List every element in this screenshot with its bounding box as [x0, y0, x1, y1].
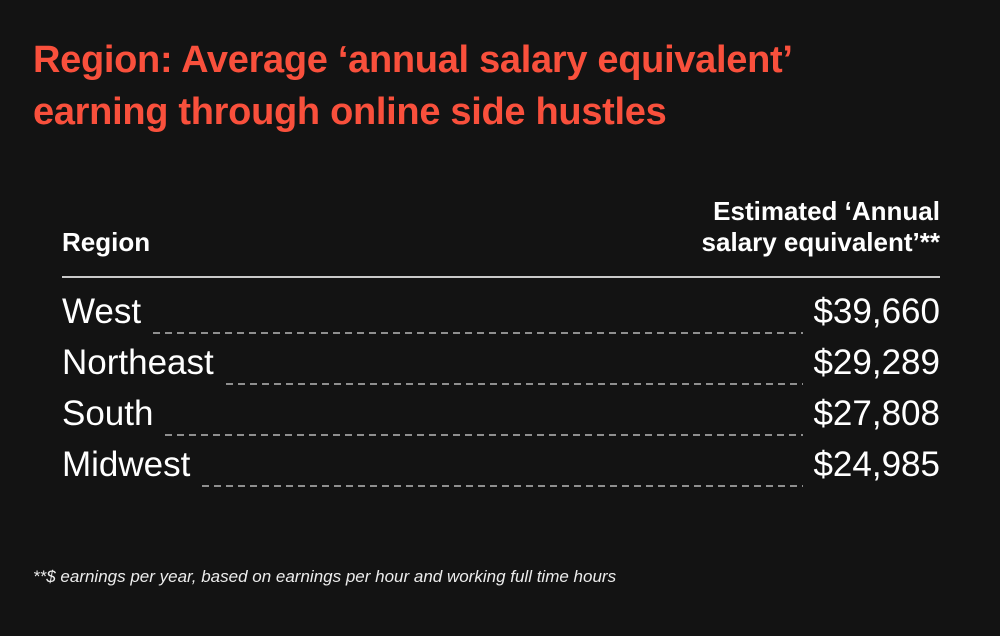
row-label: West [62, 292, 141, 332]
page-title: Region: Average ‘annual salary equivalen… [33, 34, 933, 138]
leader-line [165, 434, 803, 436]
infographic-card: Region: Average ‘annual salary equivalen… [0, 0, 1000, 636]
row-label: Midwest [62, 445, 190, 485]
table-row: Midwest $24,985 [62, 445, 940, 496]
table-row: Northeast $29,289 [62, 343, 940, 394]
table-header-row: Region Estimated ‘Annual salary equivale… [62, 196, 940, 276]
leader-line [153, 332, 803, 334]
table-row: South $27,808 [62, 394, 940, 445]
leader-line [226, 383, 804, 385]
column-header-region: Region [62, 227, 150, 258]
row-value: $29,289 [813, 343, 940, 383]
row-label: Northeast [62, 343, 214, 383]
footnote: **$ earnings per year, based on earnings… [33, 566, 616, 588]
row-value: $27,808 [813, 394, 940, 434]
row-value: $39,660 [813, 292, 940, 332]
row-value: $24,985 [813, 445, 940, 485]
leader-line [202, 485, 803, 487]
table-row: West $39,660 [62, 292, 940, 343]
column-header-annual-salary-equivalent: Estimated ‘Annual salary equivalent’** [702, 196, 940, 258]
row-label: South [62, 394, 153, 434]
table-body: West $39,660 Northeast $29,289 South $27… [62, 278, 940, 496]
salary-table: Region Estimated ‘Annual salary equivale… [62, 196, 940, 496]
